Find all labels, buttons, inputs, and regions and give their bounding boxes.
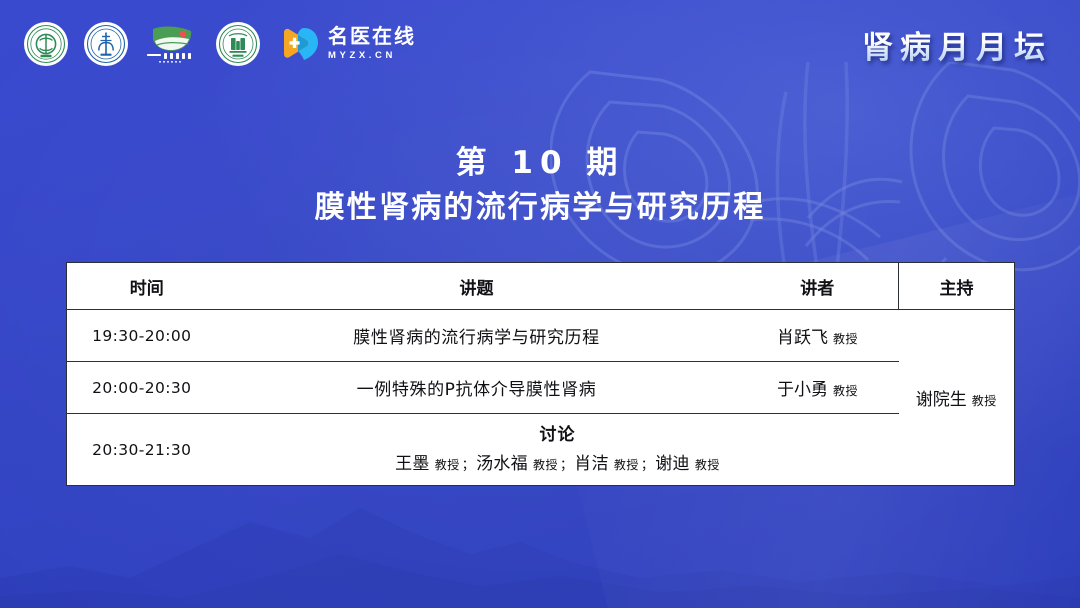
discussion-panelists: 王墨教授；汤水福教授；肖洁教授；谢迪教授 bbox=[217, 452, 899, 477]
panelist-name: 谢迪 bbox=[655, 454, 690, 474]
host-name: 谢院生 bbox=[916, 390, 967, 410]
hospital-logo-2-icon bbox=[84, 22, 128, 66]
session-main-title: 膜性肾病的流行病学与研究历程 bbox=[0, 190, 1080, 227]
yizhan-academy-logo-icon bbox=[144, 22, 200, 66]
panelist-separator: ； bbox=[462, 458, 475, 473]
forum-brand-title: 肾病月月坛 bbox=[862, 22, 1058, 67]
column-header-host: 主持 bbox=[899, 263, 1015, 310]
speaker-name: 肖跃飞 bbox=[777, 328, 828, 348]
speaker-rank: 教授 bbox=[833, 384, 858, 398]
discussion-title: 讨论 bbox=[217, 423, 899, 448]
issue-number-title: 第 10 期 bbox=[0, 144, 1080, 182]
schedule-table-container: 时间 讲题 讲者 主持 19:30-20:00 膜性肾病的流行病学与研究历程 肖… bbox=[66, 262, 1014, 486]
discussion-time: 20:30-21:30 bbox=[67, 414, 217, 486]
schedule-table: 时间 讲题 讲者 主持 19:30-20:00 膜性肾病的流行病学与研究历程 肖… bbox=[66, 262, 1015, 486]
session-time: 19:30-20:00 bbox=[67, 310, 217, 362]
partner-logo-row: 名医在线 MYZX.CN bbox=[24, 22, 416, 66]
panelist-name: 王墨 bbox=[395, 454, 430, 474]
column-header-speaker: 讲者 bbox=[737, 263, 899, 310]
myzx-play-droplet-icon bbox=[280, 26, 320, 62]
host-rank: 教授 bbox=[972, 394, 997, 408]
session-speaker: 肖跃飞教授 bbox=[737, 310, 899, 362]
panelist-name: 肖洁 bbox=[574, 454, 609, 474]
myzx-text-block: 名医在线 MYZX.CN bbox=[328, 27, 416, 61]
column-header-topic: 讲题 bbox=[217, 263, 737, 310]
panelist-rank: 教授 bbox=[435, 458, 460, 472]
session-topic: 一例特殊的P抗体介导膜性肾病 bbox=[217, 362, 737, 414]
myzx-brand-logo: 名医在线 MYZX.CN bbox=[280, 26, 416, 62]
speaker-rank: 教授 bbox=[833, 332, 858, 346]
table-header-row: 时间 讲题 讲者 主持 bbox=[67, 263, 1015, 310]
panelist-rank: 教授 bbox=[533, 458, 558, 472]
session-topic: 膜性肾病的流行病学与研究历程 bbox=[217, 310, 737, 362]
hospital-logo-4-icon bbox=[216, 22, 260, 66]
panelist-rank: 教授 bbox=[614, 458, 639, 472]
myzx-chinese-name: 名医在线 bbox=[328, 27, 416, 47]
discussion-cell: 讨论 王墨教授；汤水福教授；肖洁教授；谢迪教授 bbox=[217, 414, 899, 486]
table-row: 19:30-20:00 膜性肾病的流行病学与研究历程 肖跃飞教授 谢院生教授 bbox=[67, 310, 1015, 362]
column-header-time: 时间 bbox=[67, 263, 217, 310]
myzx-domain-name: MYZX.CN bbox=[328, 51, 416, 61]
presentation-slide: 名医在线 MYZX.CN 肾病月月坛 第 10 期 膜性肾病的流行病学与研究历程… bbox=[0, 0, 1080, 608]
session-time: 20:00-20:30 bbox=[67, 362, 217, 414]
session-speaker: 于小勇教授 bbox=[737, 362, 899, 414]
session-host: 谢院生教授 bbox=[899, 310, 1015, 486]
panelist-rank: 教授 bbox=[695, 458, 720, 472]
hospital-logo-1-icon bbox=[24, 22, 68, 66]
table-row: 20:00-20:30 一例特殊的P抗体介导膜性肾病 于小勇教授 bbox=[67, 362, 1015, 414]
panelist-name: 汤水福 bbox=[476, 454, 528, 474]
title-block: 第 10 期 膜性肾病的流行病学与研究历程 bbox=[0, 144, 1080, 227]
panelist-separator: ； bbox=[560, 458, 573, 473]
table-row-discussion: 20:30-21:30 讨论 王墨教授；汤水福教授；肖洁教授；谢迪教授 bbox=[67, 414, 1015, 486]
slide-header: 名医在线 MYZX.CN 肾病月月坛 bbox=[0, 0, 1080, 88]
speaker-name: 于小勇 bbox=[777, 380, 828, 400]
panelist-separator: ； bbox=[641, 458, 654, 473]
